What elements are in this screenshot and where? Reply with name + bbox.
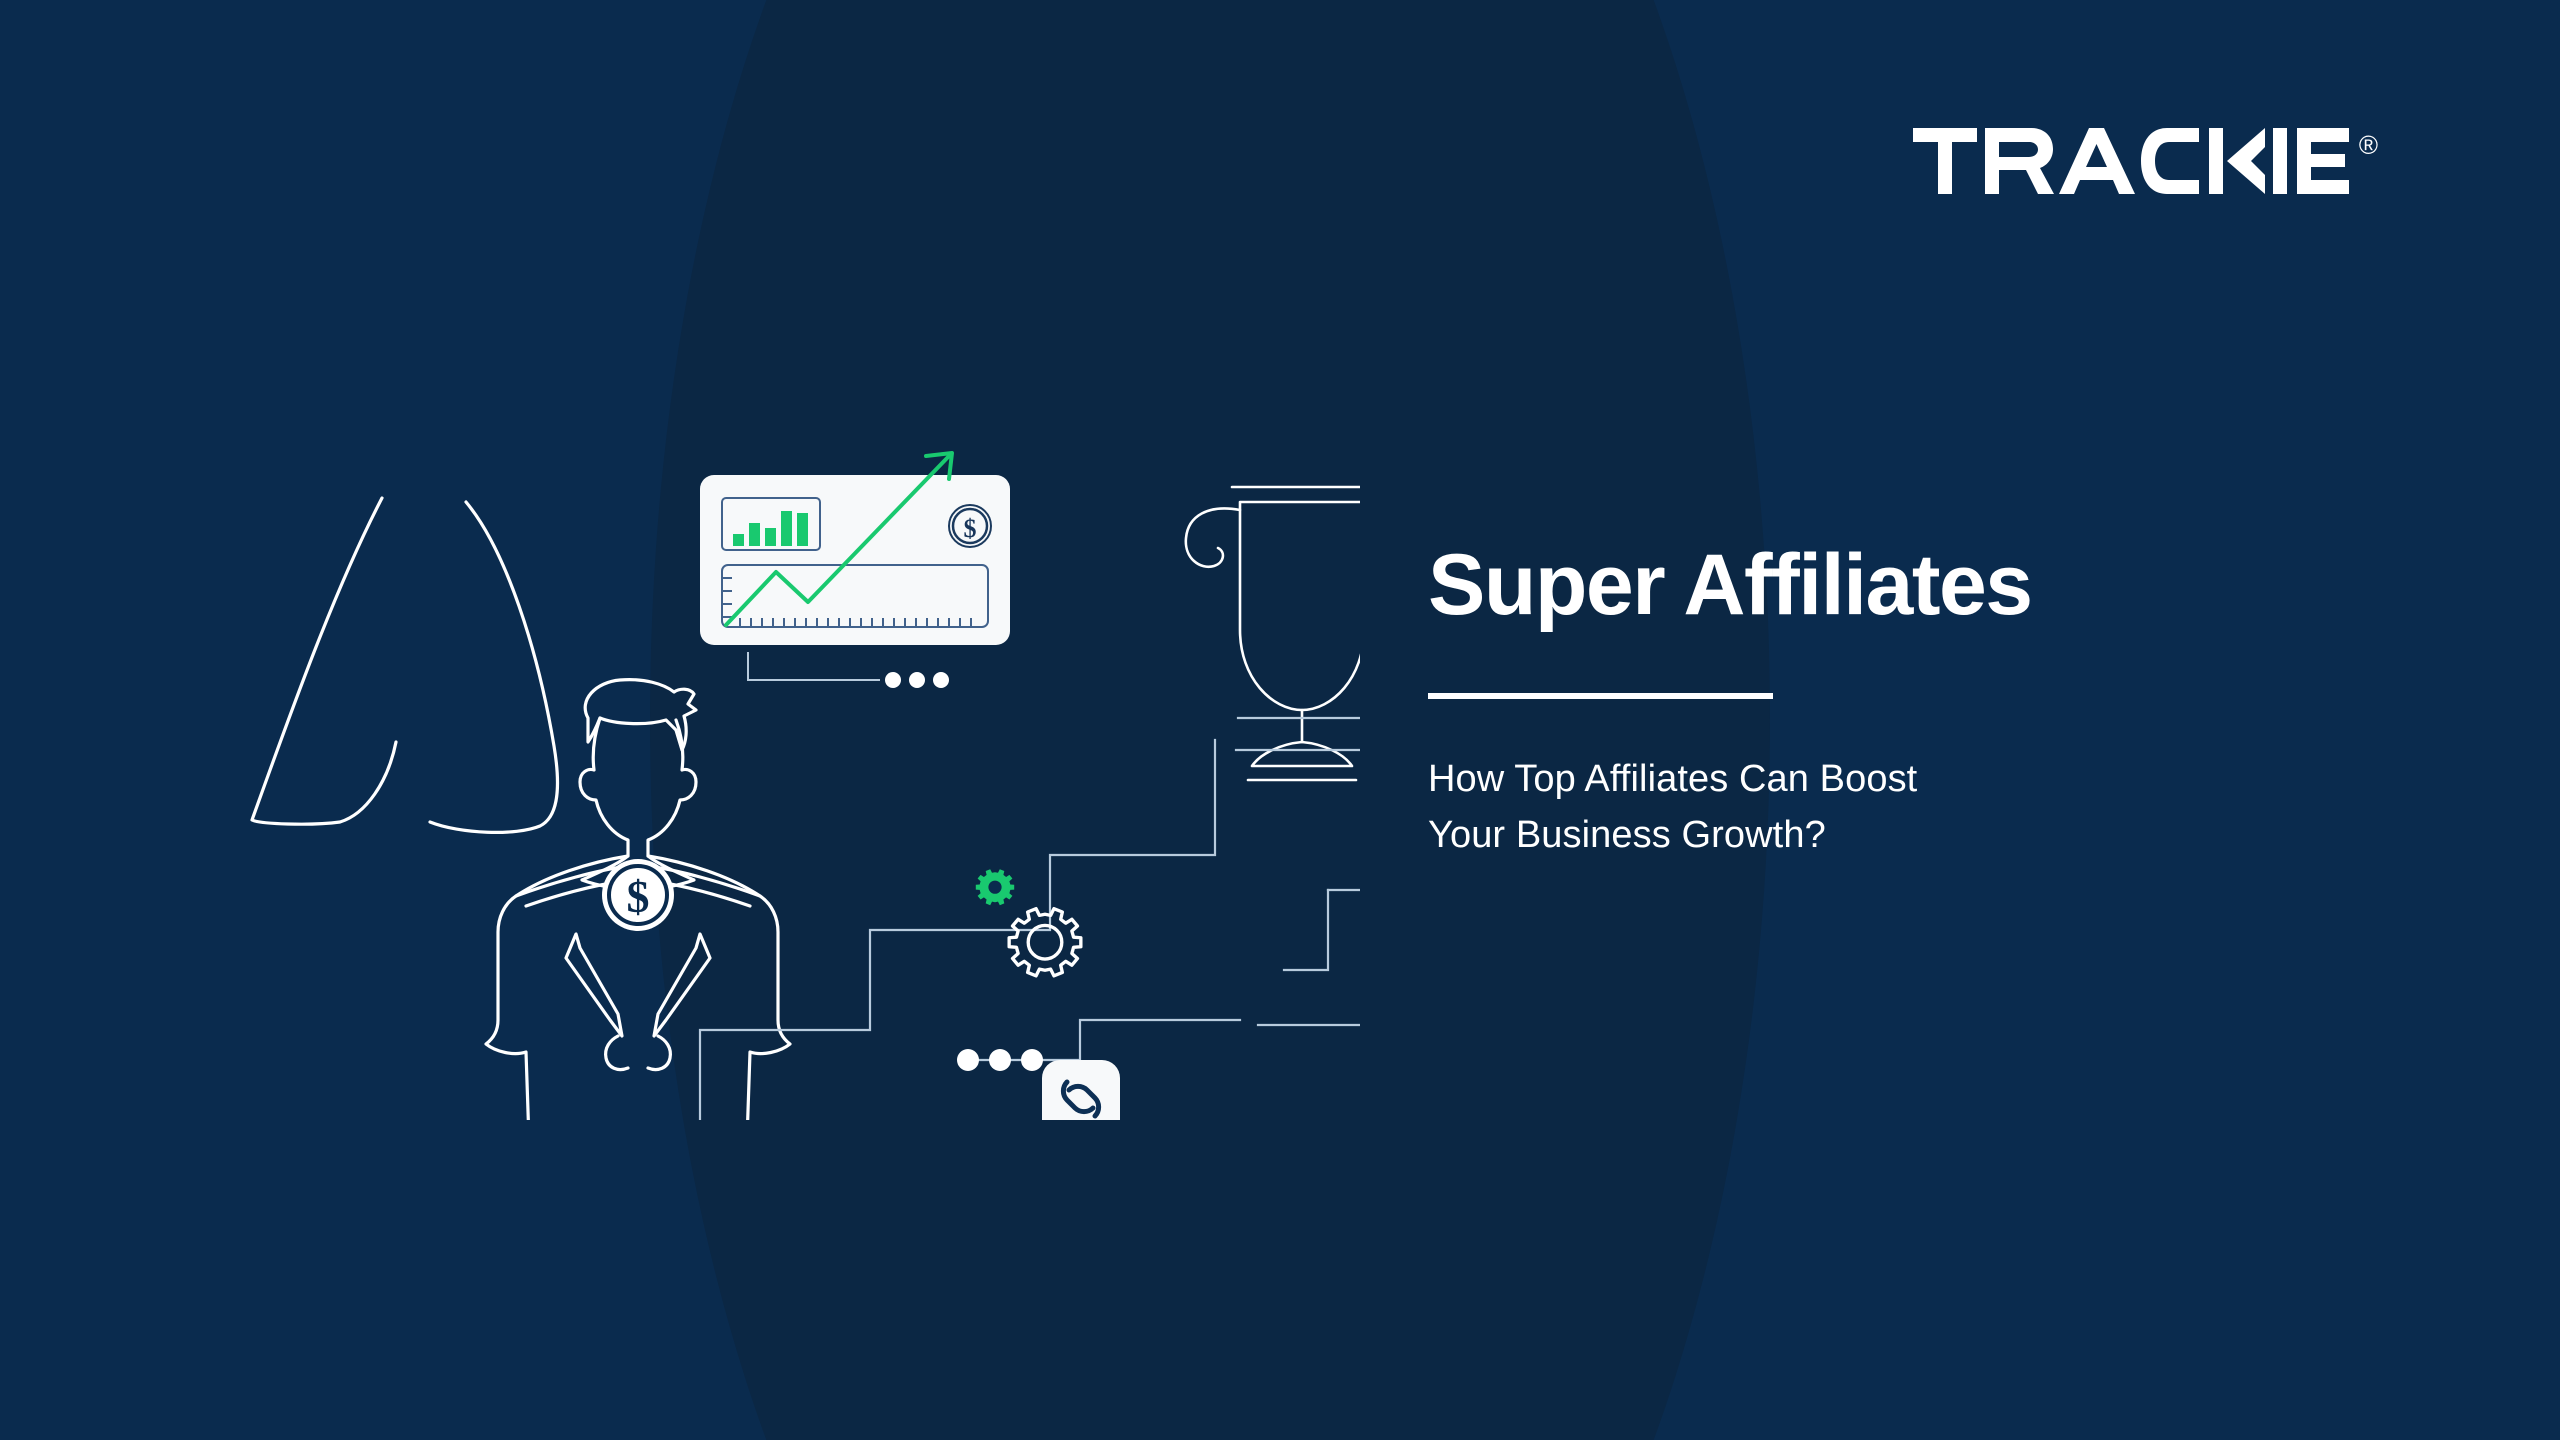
gear-icon-outline [1009,909,1081,976]
page-subtitle: How Top Affiliates Can Boost Your Busine… [1428,751,2388,863]
title-divider [1428,693,1773,699]
tile-tracking-link[interactable] [1042,1060,1120,1120]
registered-trademark-symbol: ® [2359,132,2378,158]
hero-illustration: $ $ [180,330,1360,1120]
chest-dollar-badge: $ [602,859,674,931]
subtitle-line-2: Your Business Growth? [1428,807,2388,863]
dollar-symbol: $ [627,871,650,922]
trackier-logo: ® [1913,128,2378,194]
trackier-wordmark-icon [1913,128,2353,194]
page-title: Super Affiliates [1428,540,2388,631]
dot-cluster-lower [957,1049,1043,1071]
gear-icon-green [976,869,1014,905]
card-connector-line [748,652,880,680]
hero-text-column: Super Affiliates How Top Affiliates Can … [1428,540,2388,864]
dot-cluster-upper [885,672,949,688]
award-trophy [1186,487,1360,780]
subtitle-line-1: How Top Affiliates Can Boost [1428,751,2388,807]
coin-dollar-symbol: $ [964,514,977,543]
dashboard-card: $ [700,475,1010,645]
